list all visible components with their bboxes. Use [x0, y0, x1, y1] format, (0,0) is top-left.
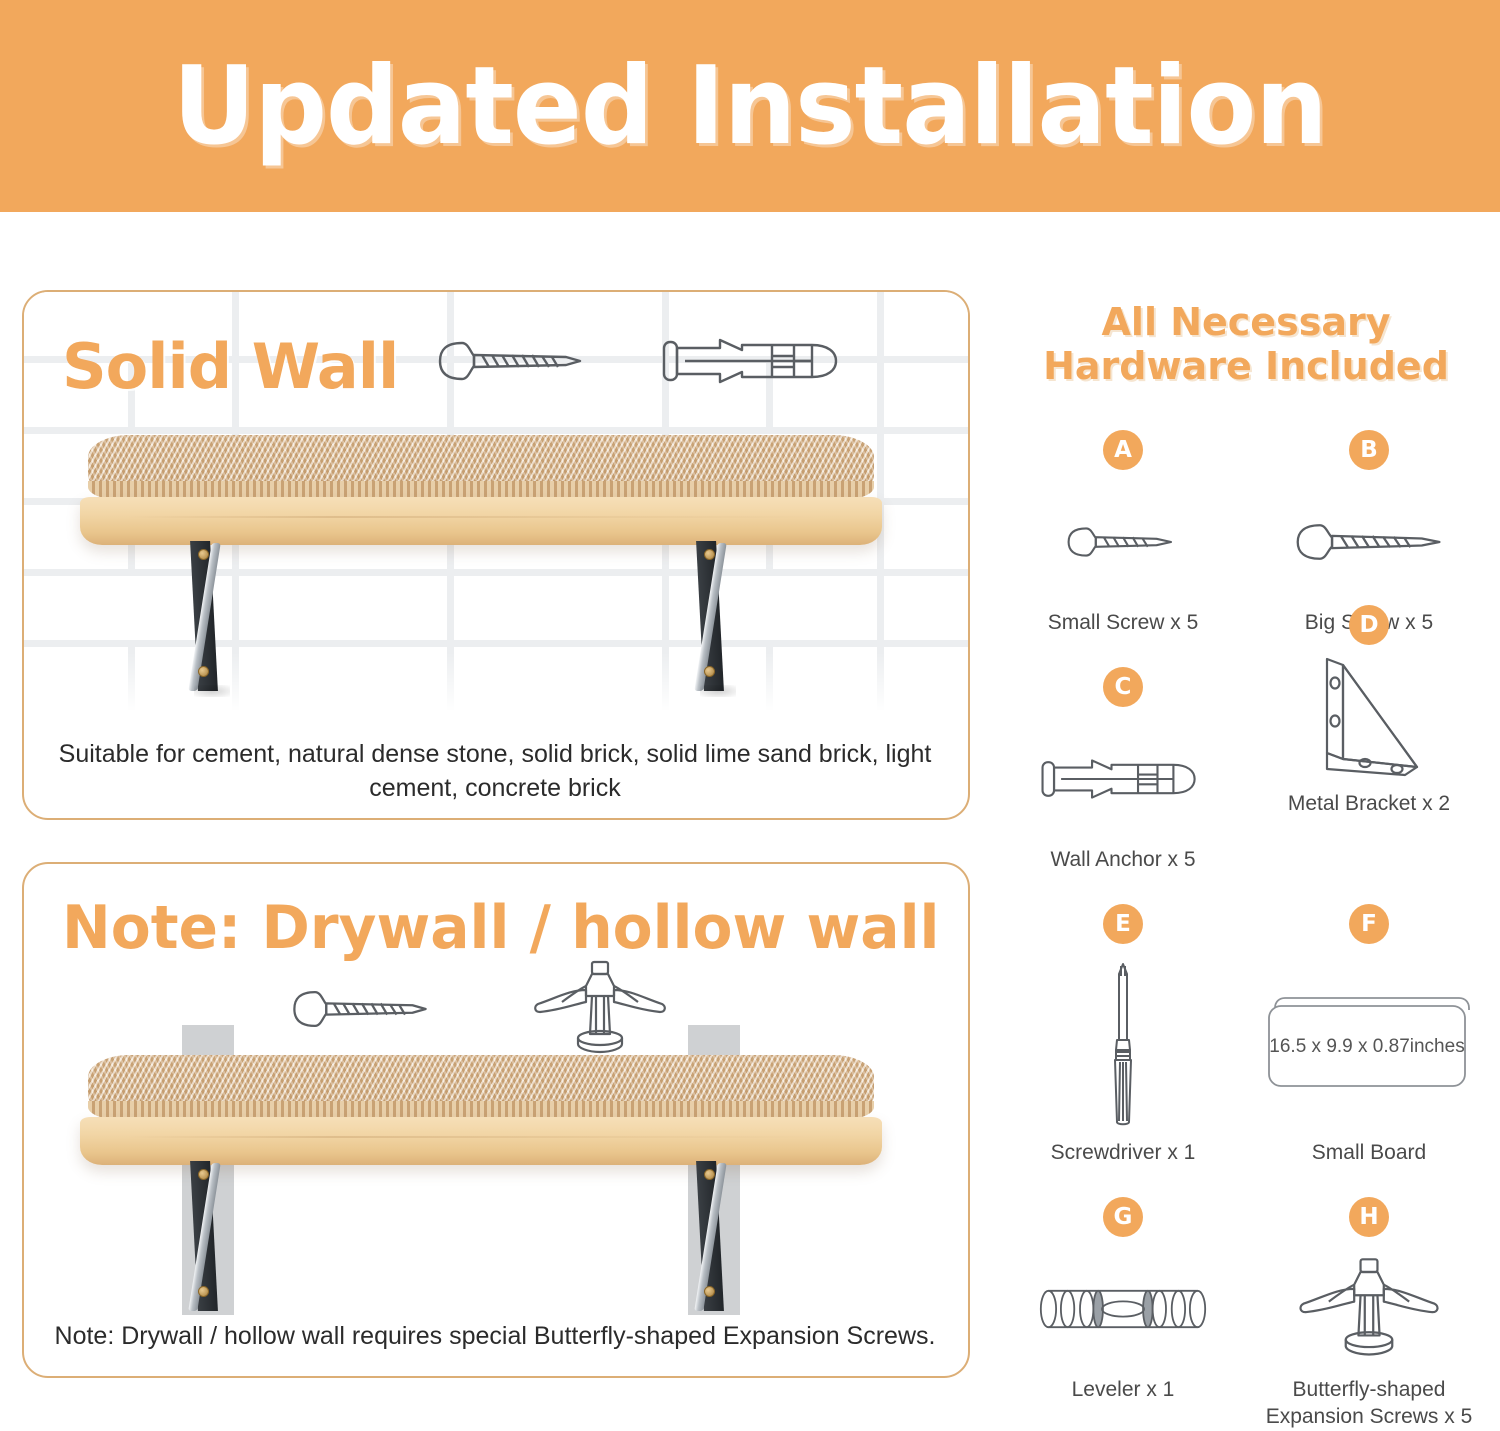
hardware-item-f: F 16.5 x 9.9 x 0.87inches Small Board — [1246, 904, 1492, 1167]
hardware-label-c: Wall Anchor x 5 — [1050, 847, 1195, 874]
small-screw-icon — [1059, 486, 1187, 598]
small-board-icon: 16.5 x 9.9 x 0.87inches — [1265, 960, 1473, 1128]
hardware-badge-e: E — [1103, 904, 1143, 944]
wall-anchor-icon — [1039, 723, 1207, 835]
hardware-badge-h: H — [1349, 1197, 1389, 1237]
hardware-item-d: D — [1246, 667, 1492, 874]
butterfly-anchor-icon — [1295, 1253, 1443, 1365]
bracket-screw-head — [198, 549, 209, 560]
bracket-shadow — [700, 685, 736, 697]
wood-shelf-board — [80, 1117, 882, 1165]
bracket-screw-head — [198, 1286, 209, 1297]
solid-wall-title: Solid Wall — [62, 330, 398, 403]
hardware-label-g: Leveler x 1 — [1072, 1377, 1175, 1404]
screw-icon — [285, 986, 435, 1032]
hardware-heading-line1: All Necessary — [1000, 300, 1492, 344]
hardware-label-a: Small Screw x 5 — [1048, 610, 1199, 637]
hardware-heading: All Necessary Hardware Included — [1000, 300, 1492, 388]
metal-bracket-right — [700, 1161, 740, 1311]
hardware-grid: A Small Screw x 5 B — [1000, 430, 1492, 1430]
solid-wall-caption: Suitable for cement, natural dense stone… — [52, 738, 938, 805]
metal-bracket-left — [194, 1161, 234, 1311]
hardware-label-h: Butterfly-shaped Expansion Screws x 5 — [1246, 1377, 1492, 1431]
solid-wall-shelf-illustration — [70, 435, 890, 690]
solid-wall-icon-row — [430, 332, 850, 390]
hardware-item-g: G Leveler — [1000, 1197, 1246, 1431]
header-banner: Updated Installation — [0, 0, 1500, 212]
bracket-screw-head — [704, 549, 715, 560]
leveler-icon — [1037, 1253, 1209, 1365]
drywall-caption: Note: Drywall / hollow wall requires spe… — [52, 1320, 938, 1354]
drywall-shelf-illustration — [70, 1055, 890, 1310]
bracket-screw-head — [704, 1169, 715, 1180]
hardware-item-c: C Wall Anchor x 5 — [1000, 667, 1246, 874]
hardware-item-a: A Small Screw x 5 — [1000, 430, 1246, 637]
screwdriver-icon — [1095, 960, 1151, 1128]
drywall-title: Note: Drywall / hollow wall — [62, 893, 939, 963]
wall-anchor-icon — [660, 332, 850, 390]
wood-shelf-board — [80, 497, 882, 545]
hardware-label-d: Metal Bracket x 2 — [1288, 791, 1450, 818]
metal-bracket-right — [700, 541, 740, 691]
hardware-label-e: Screwdriver x 1 — [1051, 1140, 1196, 1167]
hardware-badge-a: A — [1103, 430, 1143, 470]
hardware-item-e: E Screwdriver x 1 — [1000, 904, 1246, 1167]
bracket-shadow — [194, 685, 230, 697]
hardware-heading-line2: Hardware Included — [1000, 344, 1492, 388]
butterfly-anchor-icon — [530, 960, 670, 1058]
bracket-screw-head — [704, 666, 715, 677]
screw-icon — [430, 337, 590, 385]
hardware-panel: All Necessary Hardware Included A Small … — [1000, 300, 1492, 1431]
metal-bracket-icon — [1309, 655, 1429, 779]
hardware-label-f: Small Board — [1312, 1140, 1426, 1167]
drywall-icon-row — [285, 960, 670, 1058]
bracket-screw-head — [198, 1169, 209, 1180]
metal-bracket-left — [194, 541, 234, 691]
bracket-screw-head — [704, 1286, 715, 1297]
page-title: Updated Installation — [173, 44, 1327, 169]
hardware-badge-d: D — [1349, 605, 1389, 645]
bracket-screw-head — [198, 666, 209, 677]
board-dimension-text: 16.5 x 9.9 x 0.87inches — [1269, 1036, 1464, 1057]
hardware-badge-b: B — [1349, 430, 1389, 470]
hardware-badge-f: F — [1349, 904, 1389, 944]
hardware-item-h: H Butterfly-shaped Expa — [1246, 1197, 1492, 1431]
hardware-badge-g: G — [1103, 1197, 1143, 1237]
hardware-badge-c: C — [1103, 667, 1143, 707]
big-screw-icon — [1288, 486, 1450, 598]
